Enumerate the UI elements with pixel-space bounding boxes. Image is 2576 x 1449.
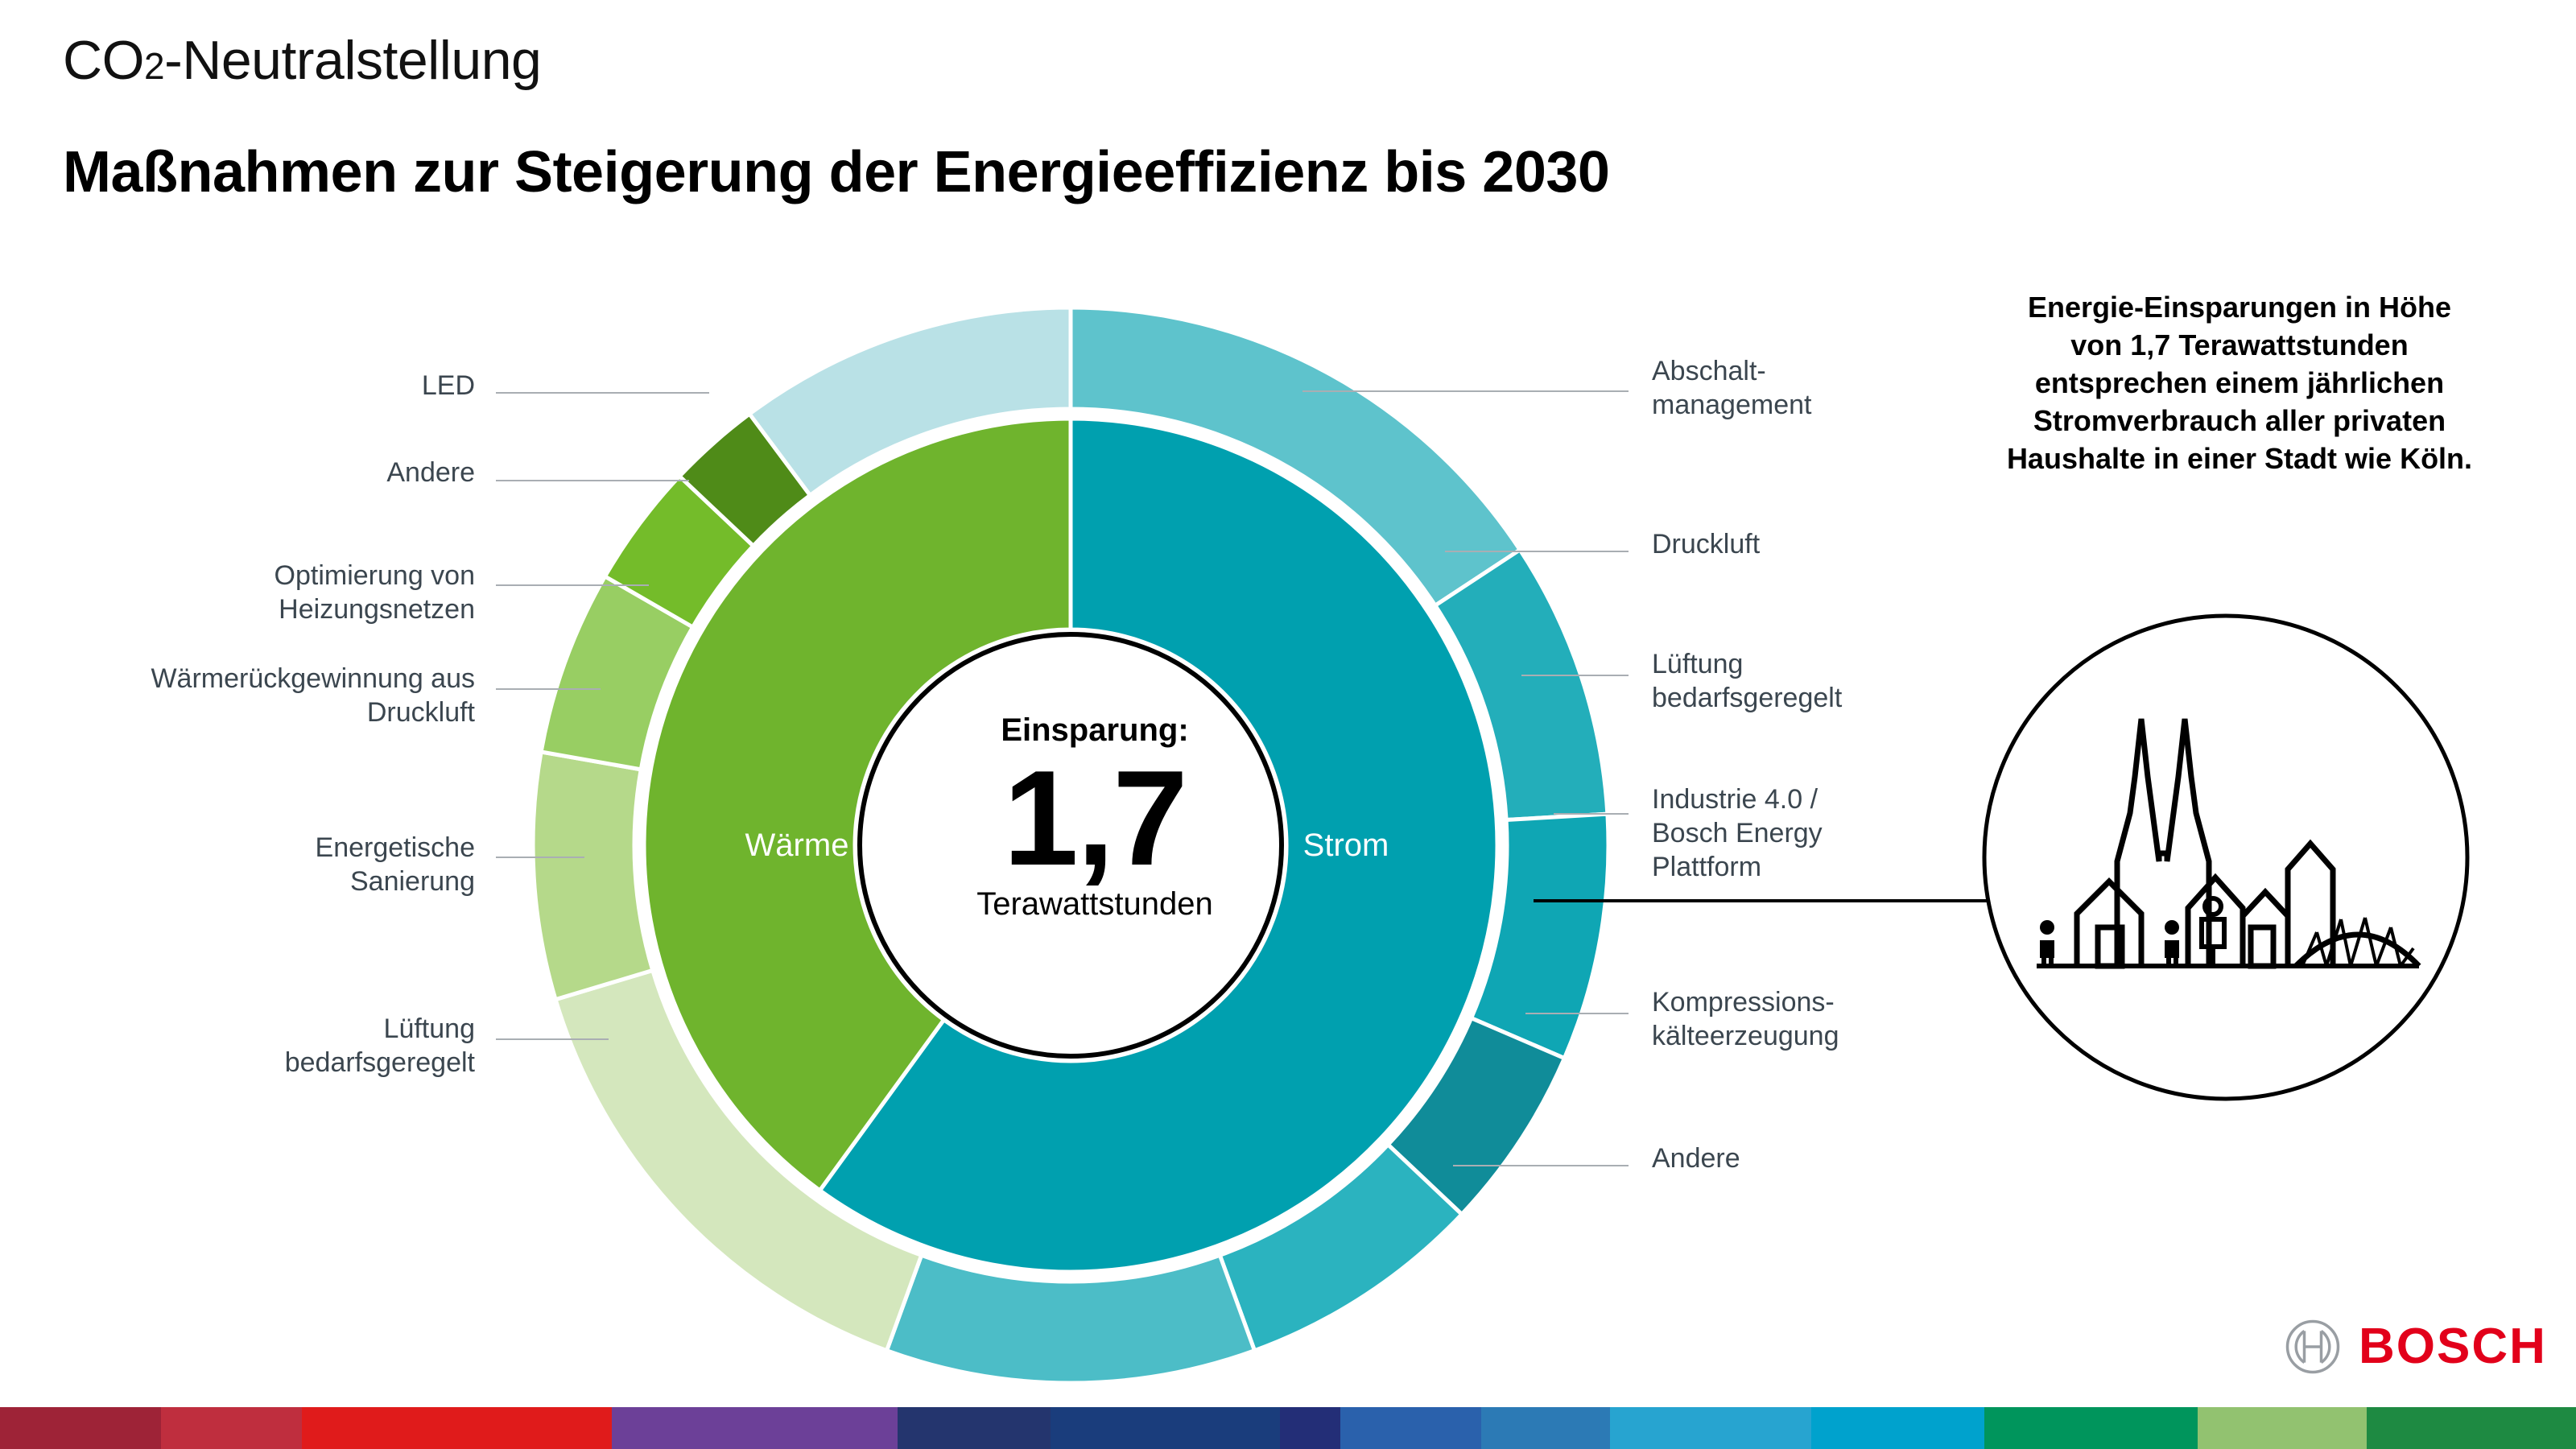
leader-label-waermerueckgewinnung: Wärmerückgewinnung aus Druckluft: [48, 628, 475, 729]
leader-line-andere-strom: [1453, 1165, 1629, 1166]
leader-line-lueftung-waerme: [496, 1038, 609, 1040]
color-bar-segment-0: [0, 1407, 161, 1449]
leader-label-andere-waerme: Andere: [161, 456, 475, 489]
color-bar-segment-9: [1610, 1407, 1811, 1449]
bosch-symbol-icon: [2285, 1319, 2341, 1375]
title-subscript-2: 2: [144, 45, 164, 87]
connector-line: [1534, 899, 1988, 902]
color-bar-segment-6: [1280, 1407, 1340, 1449]
leader-label-text: Kompressions- kälteerzeugung: [1652, 987, 1839, 1051]
leader-label-lueftung-strom: Lüftung bedarfsgeregelt: [1652, 613, 2030, 715]
cologne-illustration: [1980, 612, 2471, 1103]
color-bar-segment-2: [302, 1407, 612, 1449]
leader-label-energetische-sanierung: Energetische Sanierung: [153, 797, 475, 898]
color-bar-segment-11: [1984, 1407, 2198, 1449]
leader-line-abschaltmanagement: [1302, 390, 1629, 392]
leader-label-abschaltmanagement: Abschalt- management: [1652, 320, 2030, 422]
color-bar-segment-8: [1481, 1407, 1610, 1449]
donut-svg: Wärme Strom: [531, 306, 1610, 1385]
leader-label-text: Wärmerückgewinnung aus Druckluft: [151, 663, 475, 728]
illustration-circle: [1984, 616, 2467, 1099]
leader-label-text: Energetische Sanierung: [316, 832, 475, 897]
leader-label-industrie-40: Industrie 4.0 / Bosch Energy Plattform: [1652, 749, 2030, 884]
color-bar-segment-12: [2198, 1407, 2367, 1449]
color-bar-segment-4: [898, 1407, 1051, 1449]
ring-label-waerme: Wärme: [745, 828, 849, 863]
bosch-wordmark: BOSCH: [2359, 1322, 2547, 1372]
leader-label-kompressionskaelte: Kompressions- kälteerzeugung: [1652, 952, 2030, 1053]
outer-segment-energetische-sanierung[interactable]: [533, 752, 653, 1000]
leader-line-optimierung-heizungsnetzen: [496, 584, 649, 586]
leader-label-text: Lüftung bedarfsgeregelt: [285, 1013, 475, 1078]
page-title-line2: Maßnahmen zur Steigerung der Energieeffi…: [63, 141, 1609, 204]
color-bar-segment-10: [1811, 1407, 1984, 1449]
leader-line-led: [496, 392, 709, 394]
leader-label-text: Andere: [1652, 1143, 1740, 1174]
leader-line-kompressionskaelte: [1525, 1013, 1629, 1014]
color-bar-segment-7: [1340, 1407, 1481, 1449]
leader-line-druckluft: [1445, 551, 1629, 552]
leader-label-text: Lüftung bedarfsgeregelt: [1652, 649, 1842, 713]
leader-label-optimierung-heizungsnetzen: Optimierung von Heizungsnetzen: [129, 525, 475, 626]
leader-label-text: Optimierung von Heizungsnetzen: [275, 560, 475, 625]
color-bar-segment-5: [1051, 1407, 1280, 1449]
leader-label-text: Druckluft: [1652, 529, 1760, 559]
leader-label-text: LED: [422, 370, 475, 401]
donut-center-hole: [860, 634, 1282, 1056]
leader-line-energetische-sanierung: [496, 857, 584, 858]
bosch-logo: BOSCH: [2285, 1311, 2547, 1383]
leader-line-lueftung-strom: [1521, 675, 1629, 676]
color-bar-segment-1: [161, 1407, 302, 1449]
color-bar-segment-13: [2367, 1407, 2576, 1449]
leader-label-text: Abschalt- management: [1652, 356, 1811, 420]
donut-chart: Wärme Strom: [531, 306, 1610, 1385]
leader-label-druckluft: Druckluft: [1652, 527, 2030, 561]
leader-line-andere-waerme: [496, 480, 689, 481]
leader-label-text: Industrie 4.0 / Bosch Energy Plattform: [1652, 784, 1823, 882]
leader-label-lueftung-waerme: Lüftung bedarfsgeregelt: [153, 978, 475, 1080]
infographic-root: CO2-Neutralstellung Maßnahmen zur Steige…: [0, 0, 2576, 1449]
leader-line-waermerueckgewinnung: [496, 688, 601, 690]
page-title-line1: CO2-Neutralstellung: [63, 31, 541, 96]
title-co: CO: [63, 30, 144, 91]
leader-line-industrie-40: [1554, 813, 1629, 815]
ring-label-strom: Strom: [1303, 828, 1389, 863]
outer-segment-andere[interactable]: [887, 1255, 1255, 1383]
leader-label-text: Andere: [386, 457, 475, 488]
bottom-color-bar: [0, 1407, 2576, 1449]
leader-label-andere-strom: Andere: [1652, 1141, 2030, 1175]
leader-label-led: LED: [161, 369, 475, 402]
caption-text: Energie-Einsparungen in Höhe von 1,7 Ter…: [2003, 288, 2476, 477]
color-bar-segment-3: [612, 1407, 898, 1449]
cologne-svg: [1980, 612, 2471, 1103]
title-rest: -Neutralstellung: [164, 30, 541, 91]
